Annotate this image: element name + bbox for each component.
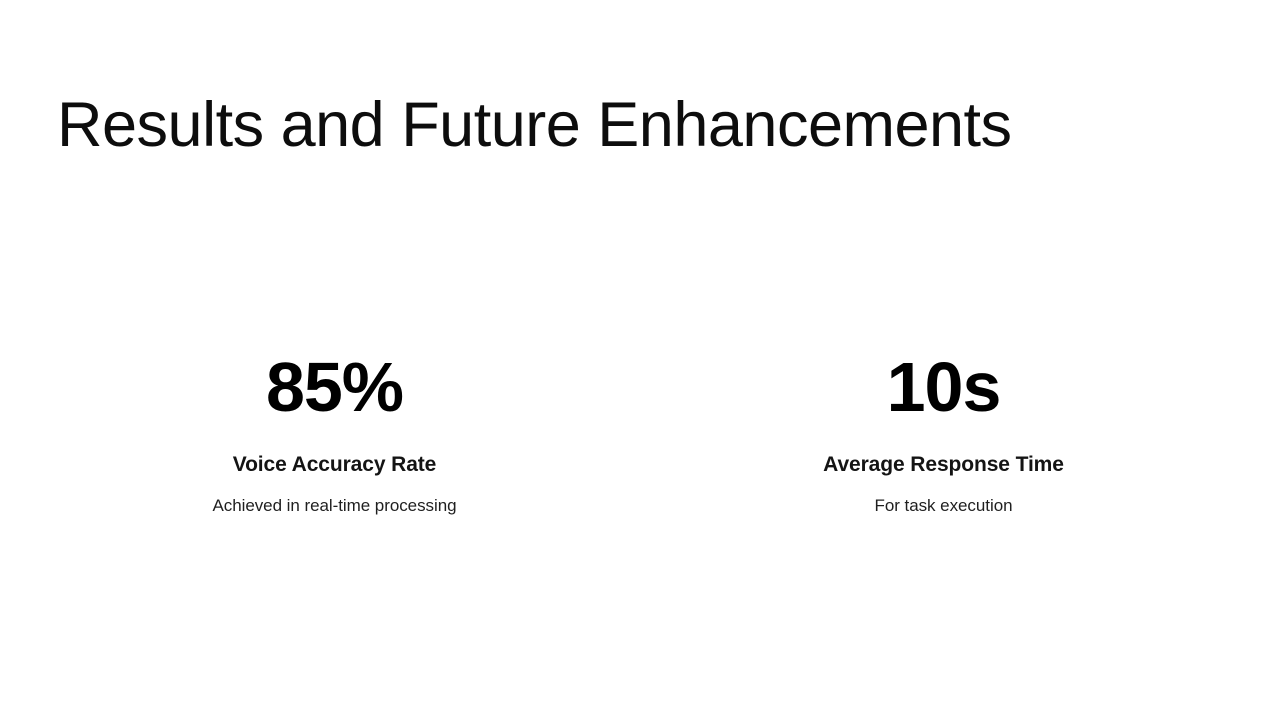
page-title: Results and Future Enhancements [57, 94, 1177, 157]
stat-value: 10s [649, 340, 1238, 422]
stat-label: Voice Accuracy Rate [40, 422, 629, 477]
stat-value: 85% [40, 340, 629, 422]
stat-description: Achieved in real-time processing [40, 477, 629, 516]
stat-description: For task execution [649, 477, 1238, 516]
stat-block-voice-accuracy: 85% Voice Accuracy Rate Achieved in real… [30, 340, 639, 517]
stats-row: 85% Voice Accuracy Rate Achieved in real… [0, 340, 1280, 517]
stat-block-average-response-time: 10s Average Response Time For task execu… [639, 340, 1248, 517]
stat-label: Average Response Time [649, 422, 1238, 477]
presentation-slide: Results and Future Enhancements 85% Voic… [0, 0, 1280, 720]
